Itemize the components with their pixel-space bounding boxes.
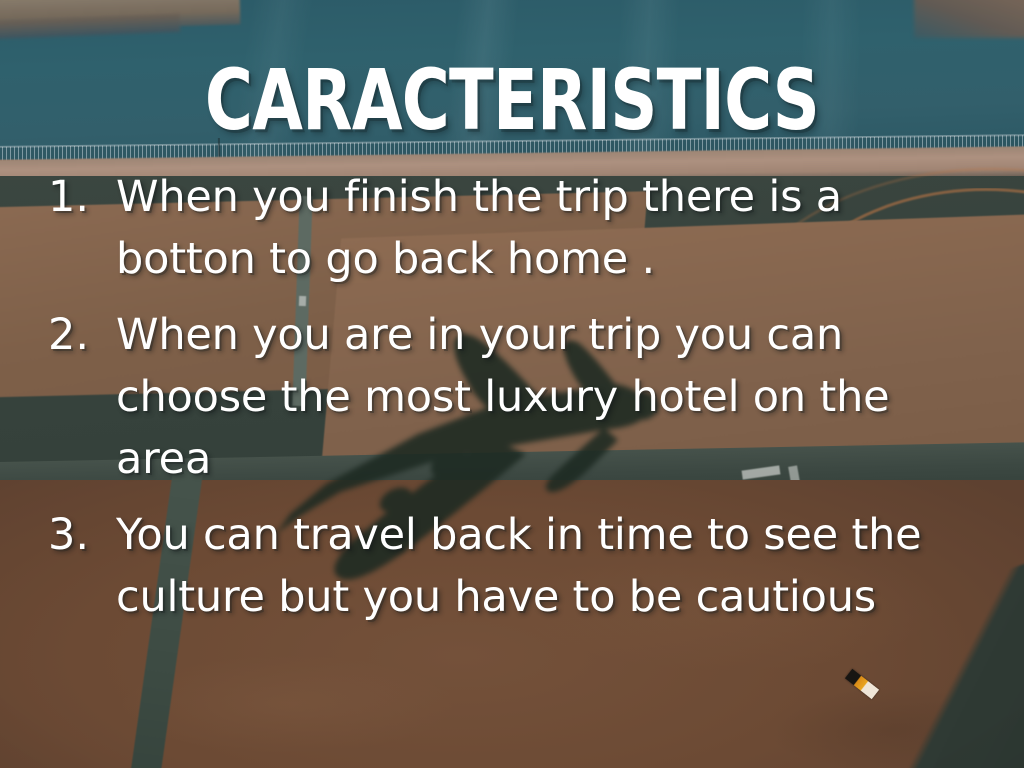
- slide-content: CARACTERISTICS 1. When you finish the tr…: [0, 0, 1024, 768]
- list-item: 3. You can travel back in time to see th…: [48, 504, 978, 628]
- list-item-number: 1.: [48, 166, 116, 228]
- characteristics-list: 1. When you finish the trip there is a b…: [48, 166, 978, 628]
- list-item-text: When you finish the trip there is a bott…: [116, 166, 978, 290]
- list-item-number: 3.: [48, 504, 116, 566]
- list-item: 1. When you finish the trip there is a b…: [48, 166, 978, 290]
- slide-title: CARACTERISTICS: [113, 58, 912, 142]
- list-item-text: When you are in your trip you can choose…: [116, 304, 978, 490]
- list-item-number: 2.: [48, 304, 116, 366]
- slide-canvas: CARACTERISTICS 1. When you finish the tr…: [0, 0, 1024, 768]
- list-item: 2. When you are in your trip you can cho…: [48, 304, 978, 490]
- list-item-text: You can travel back in time to see the c…: [116, 504, 978, 628]
